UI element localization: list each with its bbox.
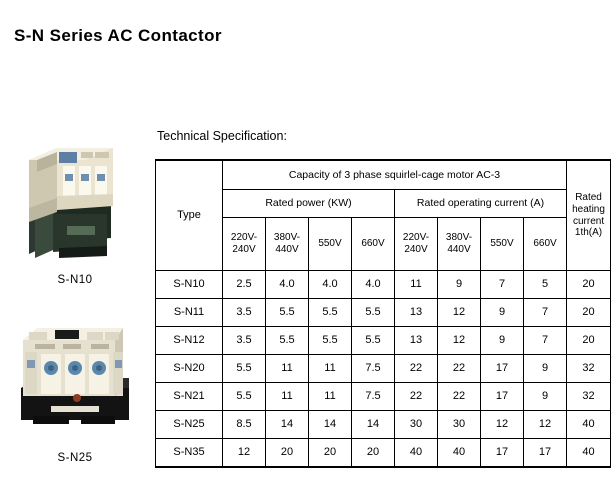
specification-table: Type Capacity of 3 phase squirlel-cage m… <box>155 159 611 468</box>
table-row: S-N35122020204040171740 <box>156 439 611 468</box>
header-rated-heating-line-3: current <box>567 216 610 228</box>
cell-heating-current: 40 <box>567 439 611 468</box>
cell-value-5: 12 <box>438 327 481 355</box>
header-voltage-col-6: 550V <box>481 218 524 271</box>
cell-value-6: 12 <box>481 411 524 439</box>
cell-value-0: 5.5 <box>223 355 266 383</box>
page-title: S-N Series AC Contactor <box>14 26 222 46</box>
product-block-sn10: S-N10 <box>0 130 150 286</box>
cell-value-2: 11 <box>309 355 352 383</box>
cell-value-6: 9 <box>481 327 524 355</box>
cell-heating-current: 40 <box>567 411 611 439</box>
cell-heating-current: 20 <box>567 327 611 355</box>
header-voltage-2-line1: 550V <box>309 238 351 250</box>
cell-value-0: 12 <box>223 439 266 468</box>
header-voltage-5-line2: 440V <box>438 244 480 256</box>
cell-value-5: 12 <box>438 299 481 327</box>
table-row: S-N123.55.55.55.513129720 <box>156 327 611 355</box>
cell-value-2: 14 <box>309 411 352 439</box>
cell-value-3: 4.0 <box>352 271 395 299</box>
product-caption-sn10: S-N10 <box>0 274 150 286</box>
cell-value-7: 7 <box>524 327 567 355</box>
cell-value-2: 4.0 <box>309 271 352 299</box>
header-voltage-1-line2: 440V <box>266 244 308 256</box>
header-rated-power-group: Rated power (KW) <box>223 190 395 218</box>
cell-value-4: 40 <box>395 439 438 468</box>
cell-value-4: 22 <box>395 355 438 383</box>
cell-type: S-N10 <box>156 271 223 299</box>
cell-type: S-N21 <box>156 383 223 411</box>
cell-value-5: 40 <box>438 439 481 468</box>
header-row-voltages: 220V- 240V 380V- 440V 550V 660V 220V- 24… <box>156 218 611 271</box>
technical-specification-heading: Technical Specification: <box>157 129 287 143</box>
cell-value-1: 14 <box>266 411 309 439</box>
table-row: S-N215.511117.5222217932 <box>156 383 611 411</box>
contactor-photo-sn25-icon <box>11 308 139 448</box>
header-row-group: Type Capacity of 3 phase squirlel-cage m… <box>156 160 611 190</box>
cell-value-1: 5.5 <box>266 327 309 355</box>
header-voltage-col-2: 550V <box>309 218 352 271</box>
header-rated-heating-line-2: heating <box>567 204 610 216</box>
cell-value-7: 5 <box>524 271 567 299</box>
cell-value-1: 20 <box>266 439 309 468</box>
cell-value-3: 5.5 <box>352 327 395 355</box>
table-header: Type Capacity of 3 phase squirlel-cage m… <box>156 160 611 271</box>
cell-value-6: 7 <box>481 271 524 299</box>
cell-value-4: 11 <box>395 271 438 299</box>
cell-value-6: 17 <box>481 355 524 383</box>
header-voltage-5-line1: 380V- <box>438 232 480 244</box>
header-voltage-col-4: 220V- 240V <box>395 218 438 271</box>
cell-value-7: 9 <box>524 383 567 411</box>
header-type: Type <box>156 160 223 271</box>
header-voltage-1-line1: 380V- <box>266 232 308 244</box>
cell-value-2: 5.5 <box>309 327 352 355</box>
cell-heating-current: 32 <box>567 383 611 411</box>
cell-value-0: 3.5 <box>223 327 266 355</box>
cell-value-6: 9 <box>481 299 524 327</box>
cell-value-6: 17 <box>481 439 524 468</box>
header-voltage-col-0: 220V- 240V <box>223 218 266 271</box>
specification-table-container: Type Capacity of 3 phase squirlel-cage m… <box>155 159 601 468</box>
cell-value-4: 13 <box>395 299 438 327</box>
cell-value-5: 30 <box>438 411 481 439</box>
table-row: S-N205.511117.5222217932 <box>156 355 611 383</box>
cell-value-7: 17 <box>524 439 567 468</box>
cell-value-0: 5.5 <box>223 383 266 411</box>
cell-value-4: 30 <box>395 411 438 439</box>
cell-value-4: 13 <box>395 327 438 355</box>
cell-value-5: 22 <box>438 383 481 411</box>
table-row: S-N113.55.55.55.513129720 <box>156 299 611 327</box>
cell-value-1: 5.5 <box>266 299 309 327</box>
header-rated-current-group: Rated operating current (A) <box>395 190 567 218</box>
table-row: S-N258.51414143030121240 <box>156 411 611 439</box>
cell-type: S-N11 <box>156 299 223 327</box>
cell-type: S-N20 <box>156 355 223 383</box>
cell-value-3: 14 <box>352 411 395 439</box>
cell-value-1: 11 <box>266 383 309 411</box>
cell-value-1: 4.0 <box>266 271 309 299</box>
cell-heating-current: 20 <box>567 299 611 327</box>
cell-value-3: 7.5 <box>352 383 395 411</box>
header-rated-heating-current: Rated heating current 1th(A) <box>567 160 611 271</box>
cell-value-3: 7.5 <box>352 355 395 383</box>
header-voltage-6-line1: 550V <box>481 238 523 250</box>
cell-type: S-N12 <box>156 327 223 355</box>
header-row-subgroup: Rated power (KW) Rated operating current… <box>156 190 611 218</box>
header-voltage-col-3: 660V <box>352 218 395 271</box>
header-voltage-col-1: 380V- 440V <box>266 218 309 271</box>
header-rated-heating-line-1: Rated <box>567 192 610 204</box>
cell-value-5: 22 <box>438 355 481 383</box>
cell-value-5: 9 <box>438 271 481 299</box>
header-voltage-4-line2: 240V <box>395 244 437 256</box>
header-capacity-group: Capacity of 3 phase squirlel-cage motor … <box>223 160 567 190</box>
product-image-column: S-N10 <box>0 130 150 464</box>
cell-value-2: 20 <box>309 439 352 468</box>
contactor-photo-sn10-icon <box>15 130 135 270</box>
cell-value-3: 20 <box>352 439 395 468</box>
header-voltage-4-line1: 220V- <box>395 232 437 244</box>
table-body: S-N102.54.04.04.01197520S-N113.55.55.55.… <box>156 271 611 468</box>
cell-type: S-N25 <box>156 411 223 439</box>
header-voltage-0-line2: 240V <box>223 244 265 256</box>
cell-value-7: 12 <box>524 411 567 439</box>
cell-type: S-N35 <box>156 439 223 468</box>
cell-heating-current: 32 <box>567 355 611 383</box>
table-row: S-N102.54.04.04.01197520 <box>156 271 611 299</box>
product-block-sn25: S-N25 <box>0 308 150 464</box>
product-caption-sn25: S-N25 <box>0 452 150 464</box>
cell-value-2: 11 <box>309 383 352 411</box>
cell-value-7: 9 <box>524 355 567 383</box>
cell-value-2: 5.5 <box>309 299 352 327</box>
header-voltage-col-7: 660V <box>524 218 567 271</box>
cell-value-4: 22 <box>395 383 438 411</box>
header-rated-heating-line-4: 1th(A) <box>567 227 610 239</box>
cell-heating-current: 20 <box>567 271 611 299</box>
cell-value-0: 2.5 <box>223 271 266 299</box>
header-voltage-3-line1: 660V <box>352 238 394 250</box>
cell-value-0: 8.5 <box>223 411 266 439</box>
cell-value-0: 3.5 <box>223 299 266 327</box>
header-voltage-0-line1: 220V- <box>223 232 265 244</box>
cell-value-3: 5.5 <box>352 299 395 327</box>
cell-value-7: 7 <box>524 299 567 327</box>
cell-value-6: 17 <box>481 383 524 411</box>
header-voltage-col-5: 380V- 440V <box>438 218 481 271</box>
header-voltage-7-line1: 660V <box>524 238 566 250</box>
cell-value-1: 11 <box>266 355 309 383</box>
